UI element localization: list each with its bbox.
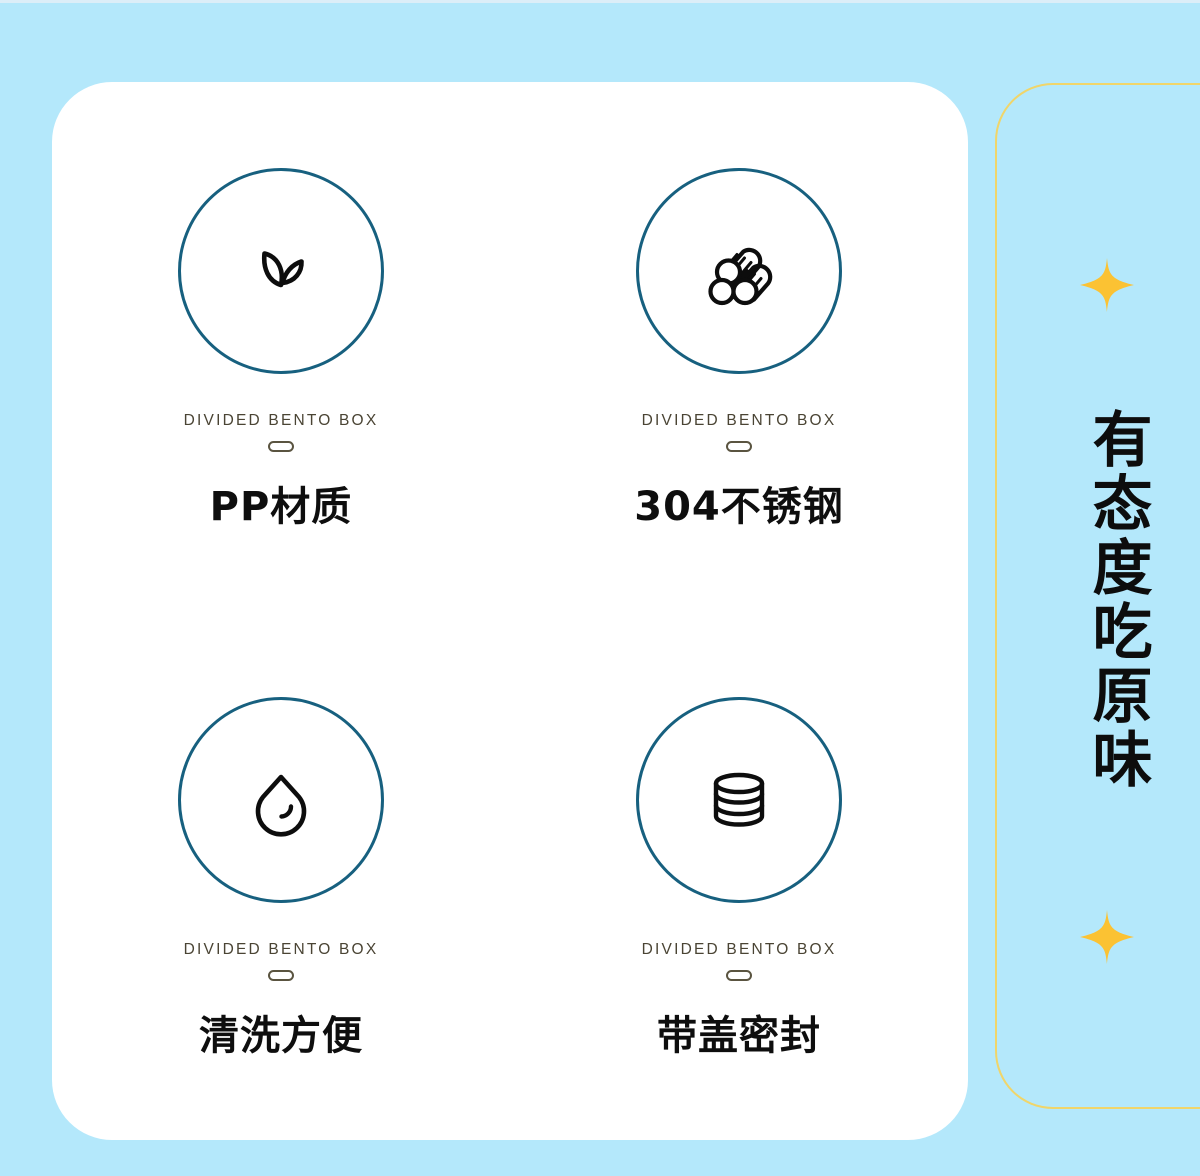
page-root: DIVIDED BENTO BOX PP材质 — [0, 0, 1200, 1176]
water-droplet-icon — [238, 757, 324, 843]
feature-title: 清洗方便 — [199, 1003, 363, 1061]
lidded-container-icon — [696, 757, 782, 843]
feature-item-sealed-lid[interactable]: DIVIDED BENTO BOX 带盖密封 — [510, 611, 968, 1140]
feature-eyebrow: DIVIDED BENTO BOX — [642, 941, 837, 959]
sparkle-icon-bottom — [1078, 908, 1136, 966]
pill-divider — [726, 441, 752, 452]
side-panel-slogan: 有态度吃原味 — [1068, 408, 1150, 792]
feature-grid: DIVIDED BENTO BOX PP材质 — [52, 82, 968, 1140]
feature-eyebrow: DIVIDED BENTO BOX — [184, 412, 379, 430]
pill-divider — [726, 970, 752, 981]
feature-item-304-stainless-steel[interactable]: DIVIDED BENTO BOX 304不锈钢 — [510, 82, 968, 611]
feature-item-pp-material[interactable]: DIVIDED BENTO BOX PP材质 — [52, 82, 510, 611]
feature-title: 带盖密封 — [657, 1003, 821, 1061]
stacked-steel-pipes-icon — [696, 228, 782, 314]
feature-item-easy-to-clean[interactable]: DIVIDED BENTO BOX 清洗方便 — [52, 611, 510, 1140]
icon-circle-pp-material — [178, 168, 384, 374]
feature-card: DIVIDED BENTO BOX PP材质 — [52, 82, 968, 1140]
sparkle-icon-top — [1078, 256, 1136, 314]
top-edge-band — [0, 0, 1200, 3]
pill-divider — [268, 970, 294, 981]
pill-divider — [268, 441, 294, 452]
leaf-sprout-icon — [238, 228, 324, 314]
icon-circle-304-stainless-steel — [636, 168, 842, 374]
feature-title: PP材质 — [210, 474, 353, 532]
feature-title: 304不锈钢 — [634, 474, 844, 532]
feature-eyebrow: DIVIDED BENTO BOX — [184, 941, 379, 959]
icon-circle-sealed-lid — [636, 697, 842, 903]
icon-circle-easy-to-clean — [178, 697, 384, 903]
feature-eyebrow: DIVIDED BENTO BOX — [642, 412, 837, 430]
